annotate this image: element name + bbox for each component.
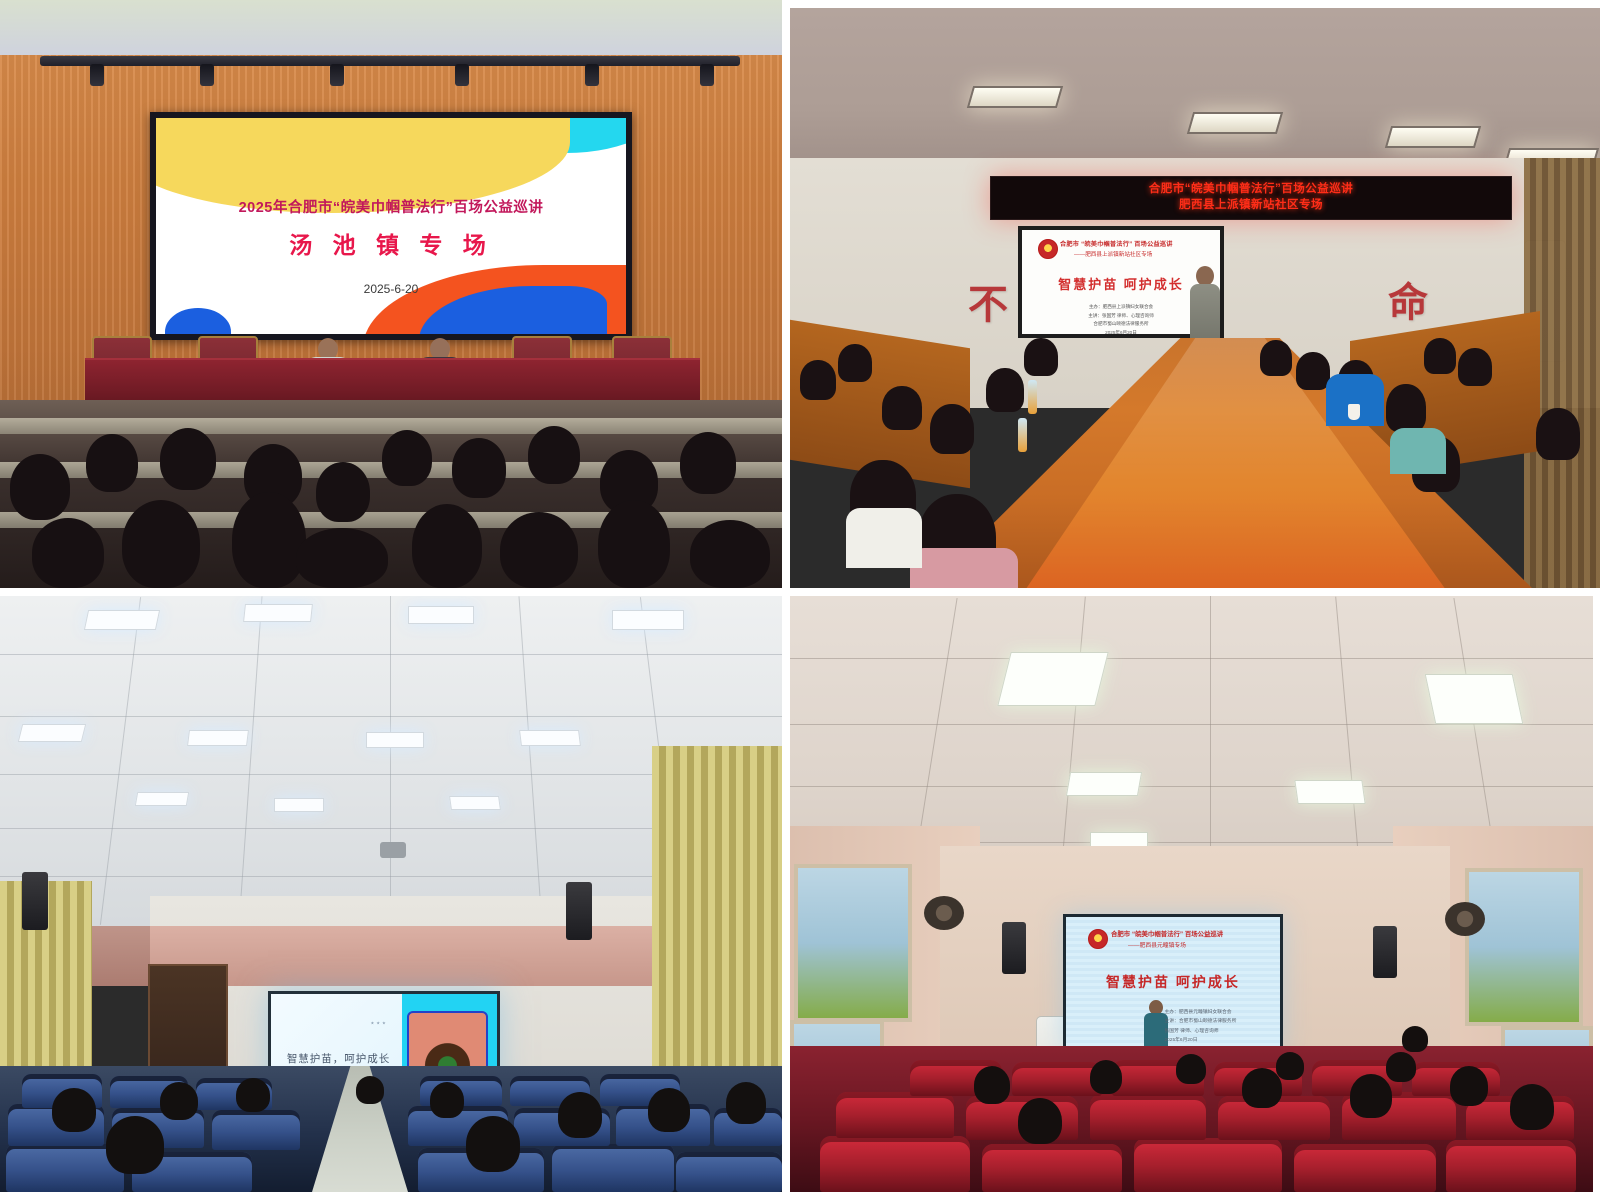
wall-speaker bbox=[22, 872, 48, 930]
ceiling-light bbox=[135, 792, 189, 806]
curtain-right bbox=[652, 746, 782, 1076]
ceiling-panel-light bbox=[1385, 126, 1481, 148]
stage-spotlight bbox=[90, 64, 104, 86]
photo-top-right-meeting-room: 合肥市“皖美巾帼普法行”百场公益巡讲 肥西县上派镇新站社区专场 不 命 合肥市 … bbox=[790, 8, 1600, 588]
ceiling-panel-light bbox=[1187, 112, 1283, 134]
photo-bottom-left-hall-blue-seats: ٭ ٭ ٭ 智慧护苗，呵护成长 bbox=[0, 596, 782, 1192]
slide-footer-line2: 主讲：合肥市蜀山颐德法律服务所 bbox=[1164, 1017, 1267, 1026]
ceiling-light bbox=[408, 606, 474, 624]
water-bottle bbox=[1028, 380, 1037, 414]
projection-screen: 2025年合肥市“皖美巾帼普法行”百场公益巡讲 汤 池 镇 专 场 2025-6… bbox=[150, 112, 632, 340]
audience-area bbox=[0, 400, 782, 588]
ceiling-light bbox=[18, 724, 86, 742]
ceiling-light bbox=[449, 796, 501, 810]
stage-spotlight bbox=[330, 64, 344, 86]
ceiling-light bbox=[519, 730, 581, 746]
wall-fan bbox=[1445, 902, 1485, 936]
slide-date: 2025-6-20 bbox=[156, 282, 626, 296]
led-banner-line2: 肥西县上派镇新站社区专场 bbox=[1179, 198, 1323, 214]
stage-spotlight bbox=[585, 64, 599, 86]
slide-footer-line3: 张国芳 律师、心理咨询师 bbox=[1164, 1027, 1267, 1036]
ceiling-light bbox=[997, 652, 1108, 706]
slide-campaign-title: 2025年合肥市“皖美巾帼普法行”百场公益巡讲 bbox=[156, 196, 626, 217]
ceiling-light bbox=[366, 732, 424, 748]
slide-venue-title: 汤 池 镇 专 场 bbox=[156, 226, 626, 260]
ceiling-light bbox=[612, 610, 684, 630]
national-emblem-icon bbox=[1088, 929, 1108, 949]
stage-spotlight bbox=[200, 64, 214, 86]
wall-speaker bbox=[1373, 926, 1397, 978]
wall-speaker bbox=[1002, 922, 1026, 974]
ceiling-light bbox=[84, 610, 160, 630]
slide-footer-line1: 主办：肥西县元疃镇妇女联合会 bbox=[1164, 1008, 1267, 1017]
ceiling-light bbox=[1425, 674, 1524, 724]
led-banner: 合肥市“皖美巾帼普法行”百场公益巡讲 肥西县上派镇新站社区专场 bbox=[990, 176, 1512, 220]
window-left bbox=[794, 864, 912, 1022]
wall-fan bbox=[924, 896, 964, 930]
wall-calligraphy-right: 命 bbox=[1388, 270, 1428, 328]
wall-speaker bbox=[566, 882, 592, 940]
slide-footer-line4: 2025年6月20日 bbox=[1164, 1036, 1267, 1045]
slide-title: 智慧护苗 呵护成长 bbox=[1066, 972, 1280, 992]
slide-header-line2: ——肥西县上派镇新站社区专场 bbox=[1074, 250, 1212, 258]
lighting-truss bbox=[40, 56, 740, 66]
slide-header-line1: 合肥市 “皖美巾帼普法行” 百场公益巡讲 bbox=[1060, 239, 1212, 248]
photo-bottom-right-hall-red-seats: 合肥市 “皖美巾帼普法行” 百场公益巡讲 ——肥西县元疃镇专场 智慧护苗 呵护成… bbox=[790, 596, 1593, 1192]
slide-title: 智慧护苗，呵护成长 bbox=[287, 1051, 391, 1066]
ceiling-light bbox=[1294, 780, 1365, 804]
ceiling bbox=[790, 8, 1600, 178]
ceiling-light bbox=[243, 604, 313, 622]
paper-cup bbox=[1348, 404, 1360, 420]
juice-bottle bbox=[1018, 418, 1027, 452]
led-banner-line1: 合肥市“皖美巾帼普法行”百场公益巡讲 bbox=[1149, 182, 1354, 198]
window-right bbox=[1465, 868, 1583, 1026]
ceiling-panel-light bbox=[967, 86, 1063, 108]
wall-calligraphy-left: 不 bbox=[968, 272, 1008, 330]
slide-header-line1: 合肥市 “皖美巾帼普法行” 百场公益巡讲 bbox=[1111, 929, 1270, 938]
ceiling-light bbox=[1066, 772, 1142, 796]
ceiling-light bbox=[187, 730, 249, 746]
slide-blue-accent bbox=[165, 308, 231, 334]
led-display-screen: 合肥市 “皖美巾帼普法行” 百场公益巡讲 ——肥西县元疃镇专场 智慧护苗 呵护成… bbox=[1063, 914, 1283, 1050]
stage-spotlight bbox=[455, 64, 469, 86]
slide-content: 2025年合肥市“皖美巾帼普法行”百场公益巡讲 汤 池 镇 专 场 2025-6… bbox=[156, 118, 626, 334]
slide-header-line2: ——肥西县元疃镇专场 bbox=[1128, 940, 1270, 949]
photo-collage: 2025年合肥市“皖美巾帼普法行”百场公益巡讲 汤 池 镇 专 场 2025-6… bbox=[0, 0, 1600, 1200]
national-emblem-icon bbox=[1038, 239, 1058, 259]
stage-spotlight bbox=[700, 64, 714, 86]
photo-top-left-auditorium: 2025年合肥市“皖美巾帼普法行”百场公益巡讲 汤 池 镇 专 场 2025-6… bbox=[0, 0, 782, 588]
ceiling-light bbox=[274, 798, 324, 812]
ceiling-projector bbox=[380, 842, 406, 858]
slide-birds-decoration: ٭ ٭ ٭ bbox=[370, 1019, 385, 1027]
